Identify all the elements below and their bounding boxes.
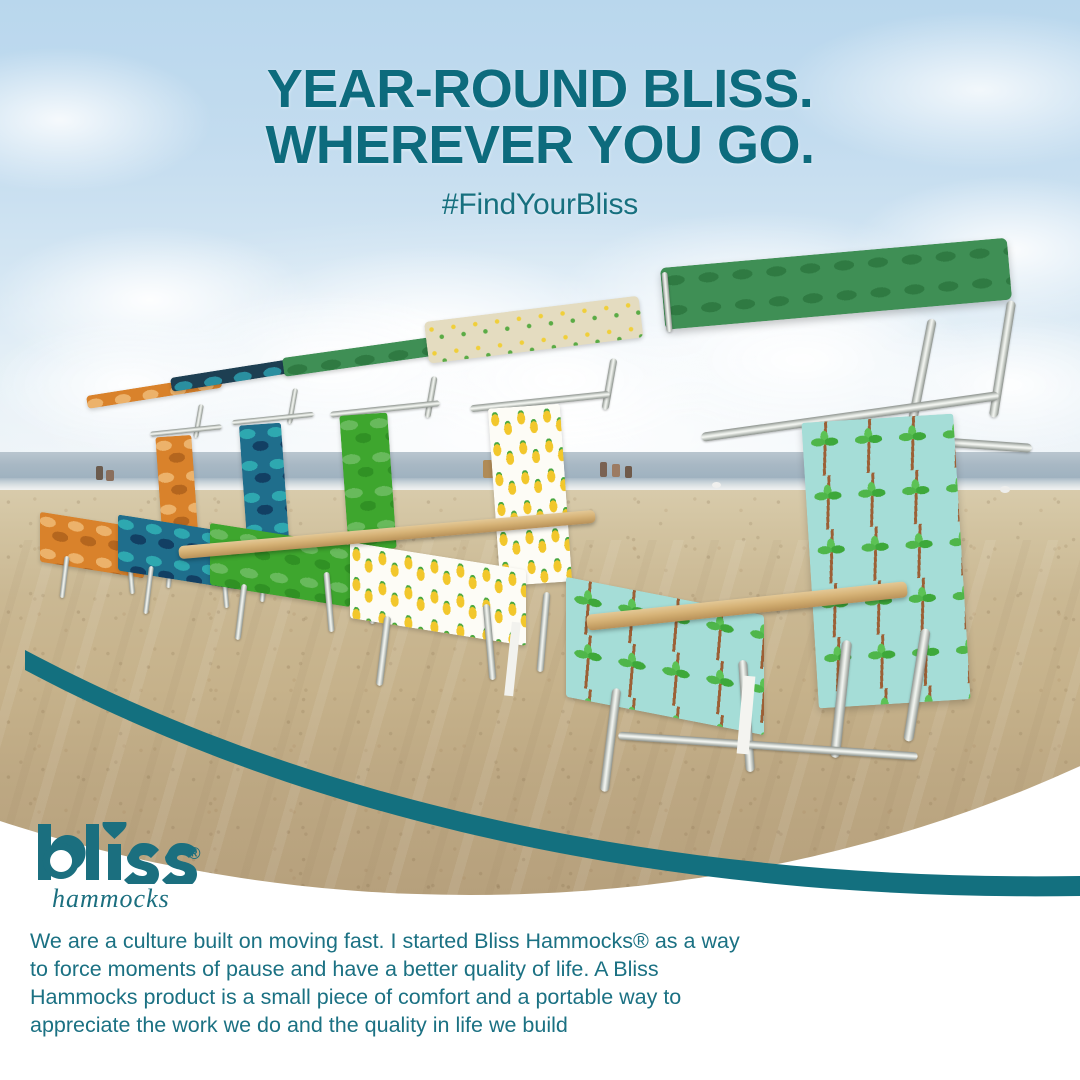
- hashtag: #FindYourBliss: [0, 188, 1080, 222]
- headline-line-1: YEAR-ROUND BLISS.: [267, 59, 814, 119]
- body-copy: We are a culture built on moving fast. I…: [30, 928, 745, 1040]
- brand-subtitle: hammocks: [52, 884, 170, 914]
- seagull: [1000, 486, 1010, 493]
- registered-trademark-symbol: ®: [188, 844, 201, 864]
- poster: YEAR-ROUND BLISS. WHEREVER YOU GO. #Find…: [0, 0, 1080, 1080]
- distant-figure: [96, 466, 103, 480]
- body-copy-text: We are a culture built on moving fast. I…: [30, 929, 740, 1037]
- chair-mint-backrest: [801, 414, 970, 709]
- distant-figure: [612, 464, 620, 477]
- brand-logo[interactable]: ® hammocks: [30, 822, 270, 922]
- distant-figure: [106, 470, 114, 481]
- chair-cream-backrest: [488, 404, 572, 587]
- headline-line-2: WHEREVER YOU GO.: [0, 118, 1080, 174]
- distant-figure: [600, 462, 607, 477]
- chair-blue-backrest: [239, 423, 289, 544]
- bliss-wordmark-icon: [30, 822, 205, 884]
- page-title: YEAR-ROUND BLISS. WHEREVER YOU GO.: [0, 62, 1080, 173]
- distant-figure: [625, 466, 632, 478]
- seagull: [712, 482, 721, 488]
